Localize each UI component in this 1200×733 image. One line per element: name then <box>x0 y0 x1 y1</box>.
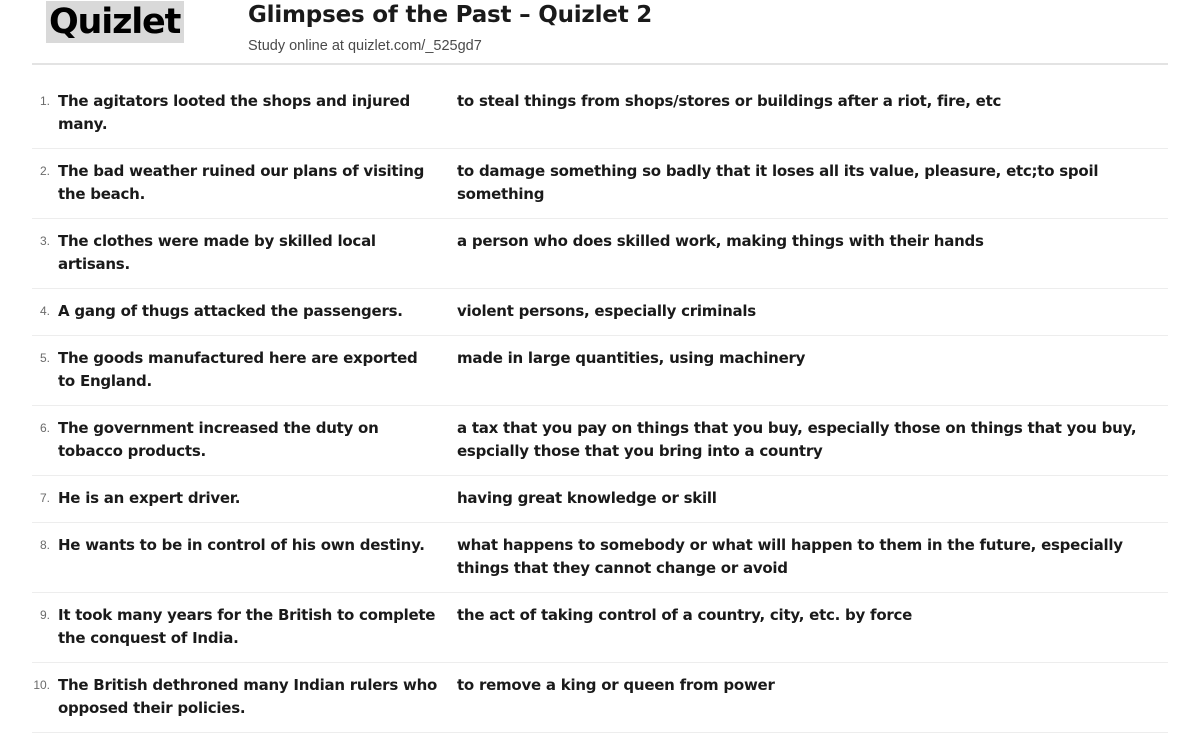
definition-text: having great knowledge or skill <box>457 487 1168 510</box>
definition-text: violent persons, especially criminals <box>457 300 1168 323</box>
row-number: 2. <box>32 160 58 183</box>
term-text: He wants to be in control of his own des… <box>58 534 457 557</box>
table-row: 1. The agitators looted the shops and in… <box>32 80 1168 149</box>
row-number: 1. <box>32 90 58 113</box>
row-number: 6. <box>32 417 58 440</box>
page-title: Glimpses of the Past – Quizlet 2 <box>248 0 1168 29</box>
study-online-subtitle: Study online at quizlet.com/_525gd7 <box>248 29 1168 56</box>
term-text: He is an expert driver. <box>58 487 457 510</box>
table-row: 9. It took many years for the British to… <box>32 593 1168 663</box>
term-text: The British dethroned many Indian rulers… <box>58 674 457 720</box>
term-text: The agitators looted the shops and injur… <box>58 90 457 136</box>
header-content: Quizlet Glimpses of the Past – Quizlet 2… <box>32 0 1168 56</box>
table-row: 4. A gang of thugs attacked the passenge… <box>32 289 1168 336</box>
term-text: The goods manufactured here are exported… <box>58 347 457 393</box>
page-header: Quizlet Glimpses of the Past – Quizlet 2… <box>0 0 1200 64</box>
quizlet-study-set-page: Quizlet Glimpses of the Past – Quizlet 2… <box>0 0 1200 630</box>
table-row: 5. The goods manufactured here are expor… <box>32 336 1168 406</box>
quizlet-logo-text: Quizlet <box>46 1 184 43</box>
row-number: 10. <box>32 674 58 697</box>
table-row: 7. He is an expert driver. having great … <box>32 476 1168 523</box>
term-text: The clothes were made by skilled local a… <box>58 230 457 276</box>
row-number: 7. <box>32 487 58 510</box>
definition-text: to steal things from shops/stores or bui… <box>457 90 1168 113</box>
definition-text: the act of taking control of a country, … <box>457 604 1168 627</box>
definition-text: a person who does skilled work, making t… <box>457 230 1168 253</box>
term-text: A gang of thugs attacked the passengers. <box>58 300 457 323</box>
definition-text: to remove a king or queen from power <box>457 674 1168 697</box>
term-text: It took many years for the British to co… <box>58 604 457 650</box>
table-row: 8. He wants to be in control of his own … <box>32 523 1168 593</box>
table-row: 2. The bad weather ruined our plans of v… <box>32 149 1168 219</box>
term-text: The government increased the duty on tob… <box>58 417 457 463</box>
definition-text: to damage something so badly that it los… <box>457 160 1168 206</box>
definition-text: what happens to somebody or what will ha… <box>457 534 1168 580</box>
terms-list: 1. The agitators looted the shops and in… <box>0 80 1200 733</box>
row-number: 9. <box>32 604 58 627</box>
definition-text: made in large quantities, using machiner… <box>457 347 1168 370</box>
quizlet-logo[interactable]: Quizlet <box>32 0 248 43</box>
term-text: The bad weather ruined our plans of visi… <box>58 160 457 206</box>
table-row: 6. The government increased the duty on … <box>32 406 1168 476</box>
header-divider <box>32 63 1168 65</box>
row-number: 3. <box>32 230 58 253</box>
row-number: 4. <box>32 300 58 323</box>
table-row: 3. The clothes were made by skilled loca… <box>32 219 1168 289</box>
definition-text: a tax that you pay on things that you bu… <box>457 417 1168 463</box>
header-title-block: Glimpses of the Past – Quizlet 2 Study o… <box>248 0 1168 56</box>
table-row: 10. The British dethroned many Indian ru… <box>32 663 1168 733</box>
row-number: 5. <box>32 347 58 370</box>
row-number: 8. <box>32 534 58 557</box>
